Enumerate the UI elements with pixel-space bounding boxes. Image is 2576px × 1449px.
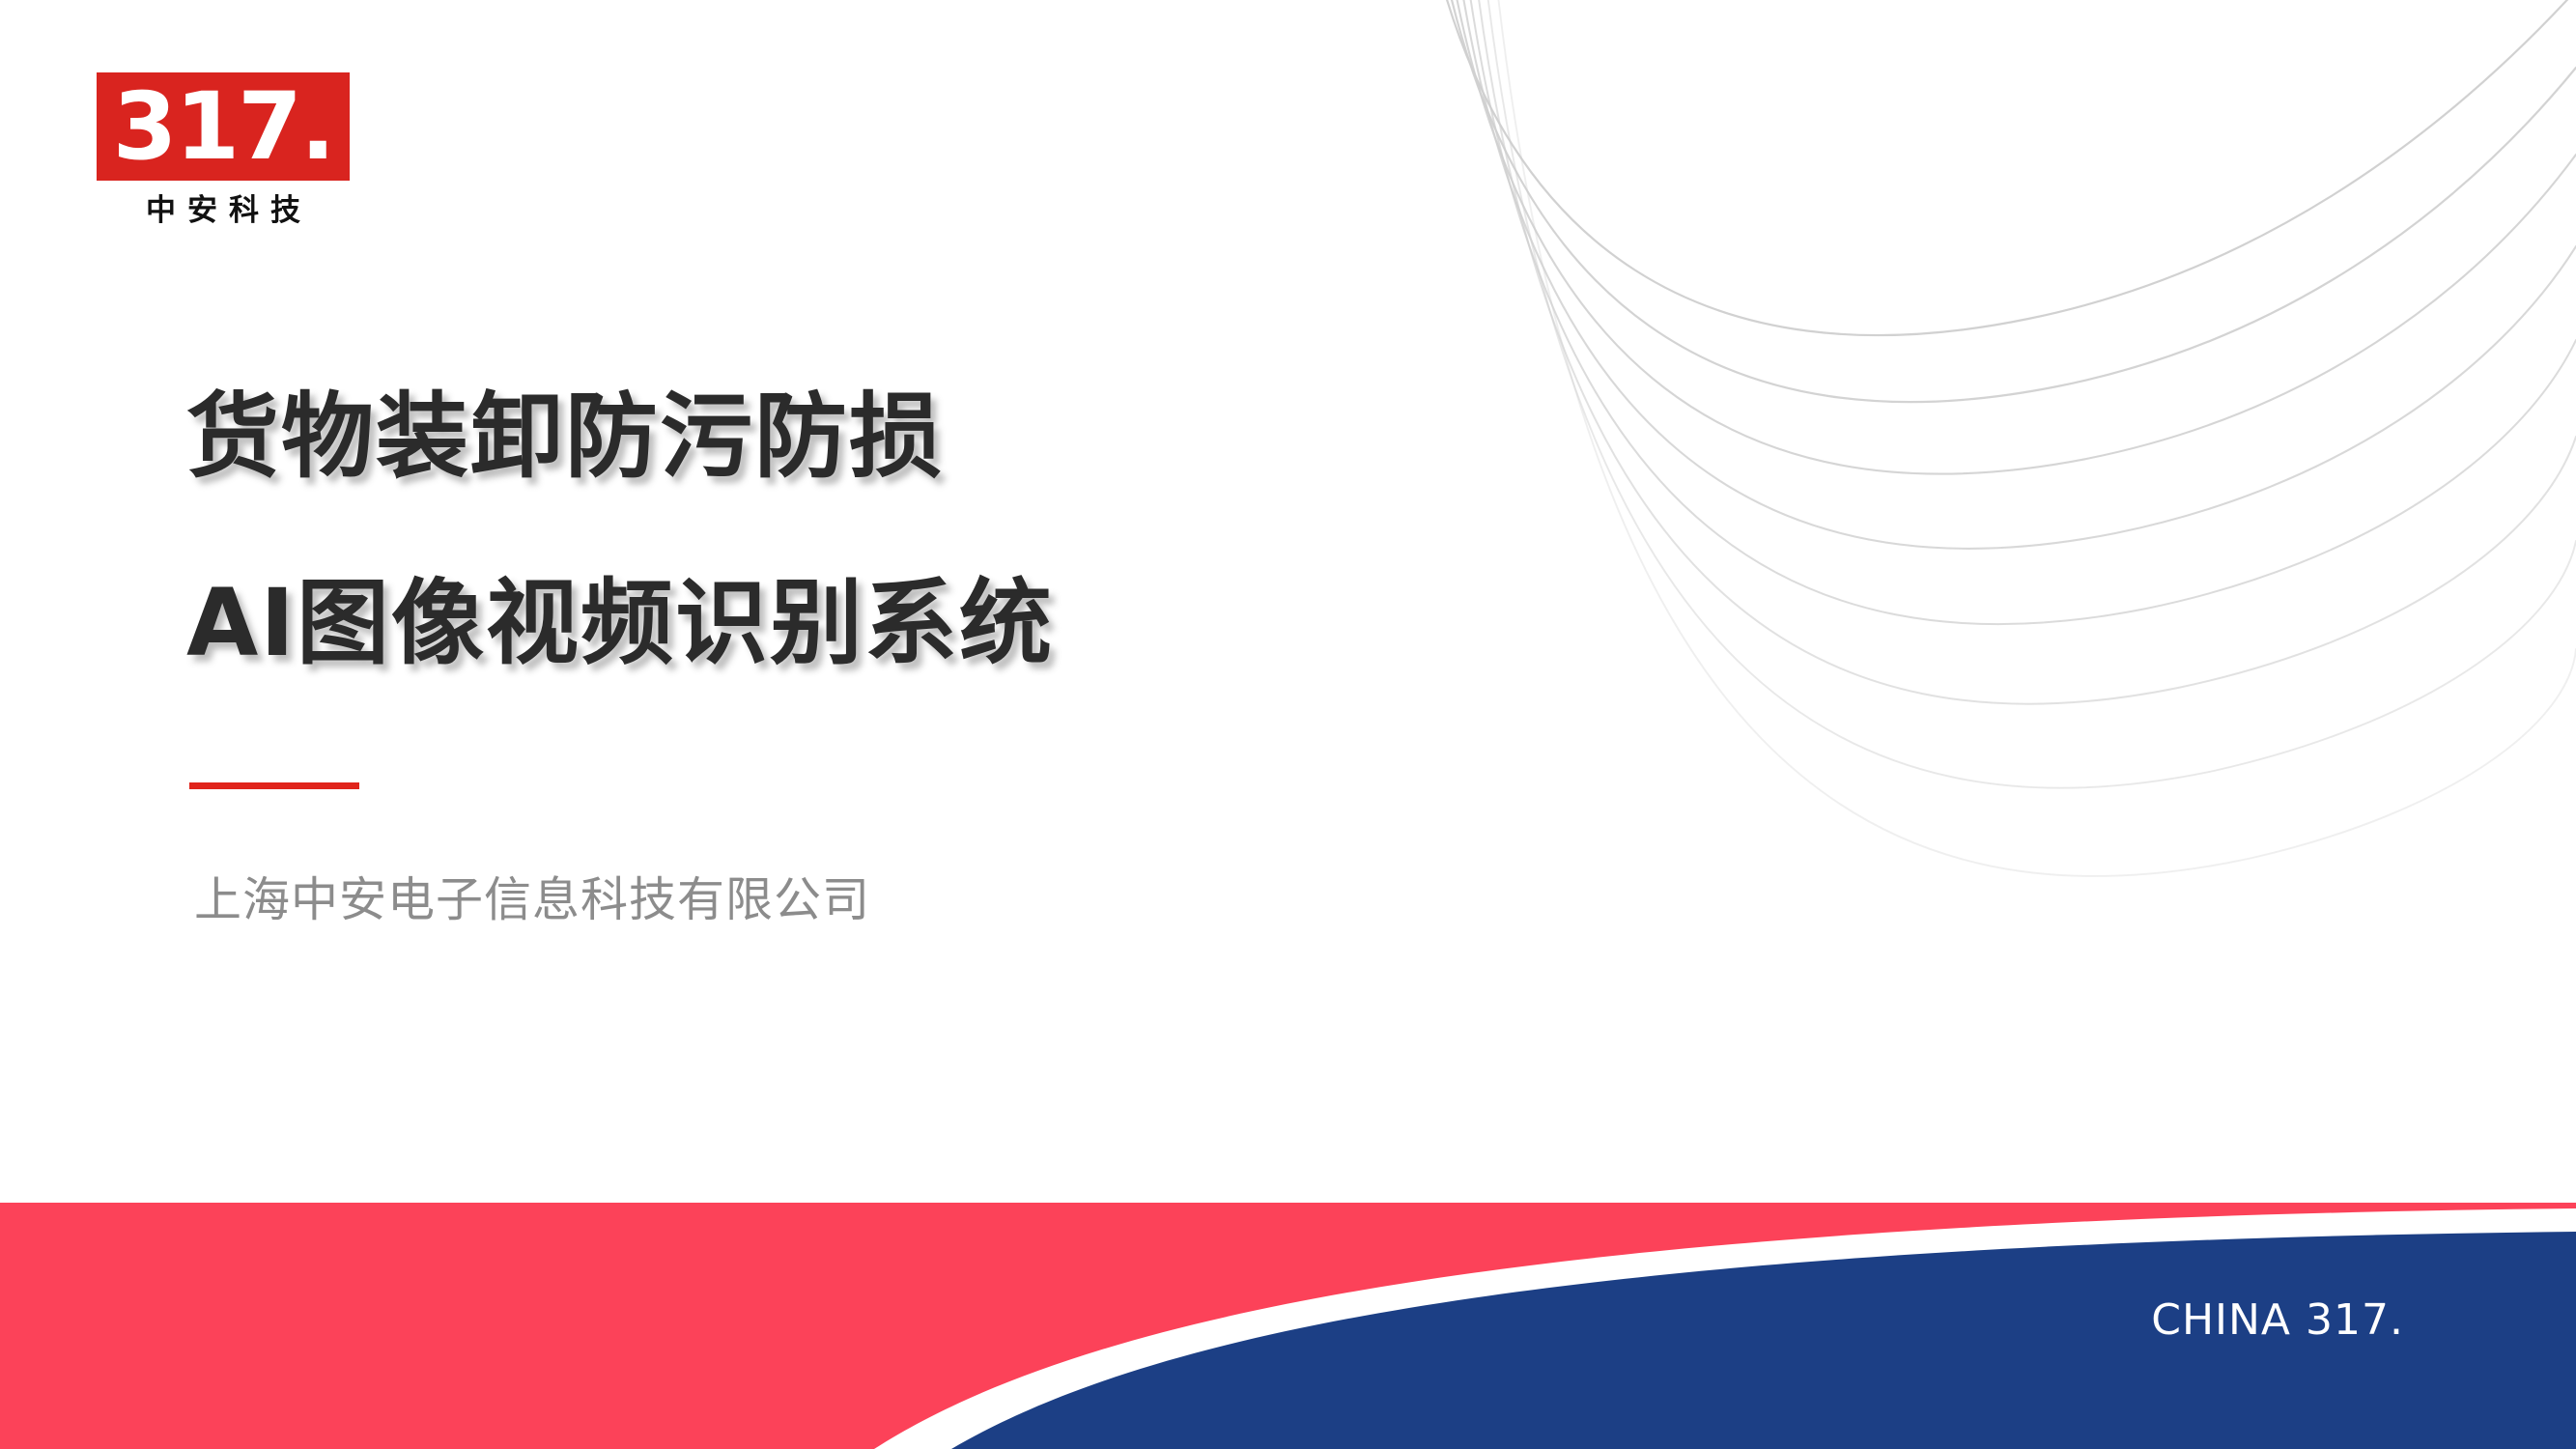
curve-3 [1450,0,2576,474]
curve-6 [1474,0,2576,704]
curve-4 [1458,0,2576,549]
curve-8 [1494,0,2576,876]
page-title-line-1: 货物装卸防污防损 [186,390,1442,483]
logo-mark: 317. [97,72,350,181]
footer-banner: CHINA 317. [0,1203,2576,1449]
curve-1 [1436,0,2576,335]
footer-brand-label: CHINA 317. [2151,1299,2404,1342]
company-logo: 317. 中安科技 [97,72,350,227]
logo-company-short: 中安科技 [97,194,350,227]
curve-7 [1484,0,2576,788]
logo-mark-text: 317. [113,80,334,173]
divider [189,782,359,789]
title-slide: 317. 中安科技 货物装卸防污防损 AI图像视频识别系统 上海中安电子信息科技… [0,0,2576,1449]
page-title-line-2: AI图像视频识别系统 [186,577,1442,669]
curve-2 [1443,0,2576,402]
curve-5 [1465,0,2576,624]
page-title: 货物装卸防污防损 AI图像视频识别系统 [186,390,1442,669]
subtitle: 上海中安电子信息科技有限公司 [194,872,870,929]
